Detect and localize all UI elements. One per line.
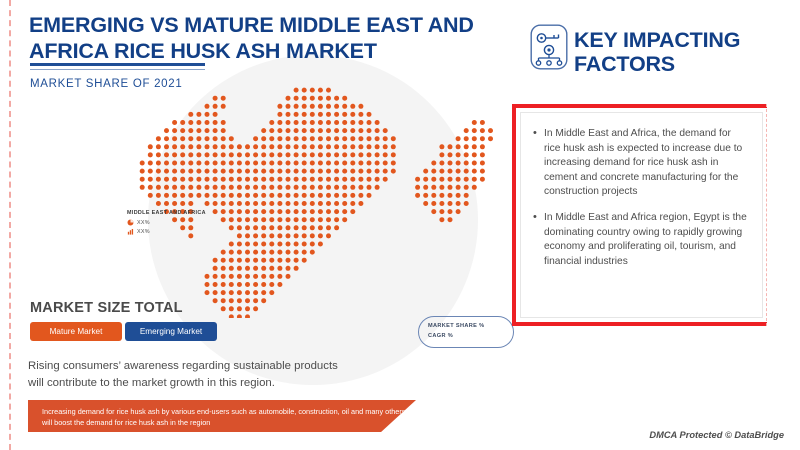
- title-rule-thin: [30, 69, 205, 70]
- key-impacting-factors-title: KEY IMPACTING FACTORS: [574, 28, 789, 76]
- page-title: EMERGING VS MATURE MIDDLE EAST AND AFRIC…: [29, 12, 499, 64]
- factors-border-right-dashed: [766, 104, 767, 326]
- body-paragraph: Rising consumers’ awareness regarding su…: [28, 358, 348, 391]
- bar-chart-icon: [127, 228, 134, 235]
- title-rule-thick: [30, 63, 205, 66]
- market-share-callout: MARKET SHARE % CAGR %: [418, 316, 514, 348]
- footer-copyright: DMCA Protected © DataBridge: [649, 430, 784, 440]
- left-edge-dashed-rule: [9, 0, 11, 450]
- callout-line-market-share: MARKET SHARE %: [428, 322, 513, 332]
- emerging-market-button[interactable]: Emerging Market: [125, 322, 217, 341]
- key-network-icon: [530, 24, 568, 70]
- market-size-total-title: MARKET SIZE TOTAL: [30, 300, 183, 316]
- mature-market-button[interactable]: Mature Market: [30, 322, 122, 341]
- factors-border-left: [512, 104, 516, 326]
- dotted-world-map: [120, 78, 520, 318]
- key-factors-box: In Middle East and Africa, the demand fo…: [512, 104, 767, 326]
- map-legend-value: XX%: [137, 220, 150, 226]
- list-item: In Middle East and Africa region, Egypt …: [544, 211, 750, 269]
- map-legend: MIDDLE EAST AND AFRICA XX% XX%: [127, 210, 232, 235]
- map-legend-row: XX%: [127, 228, 232, 235]
- list-item: In Middle East and Africa, the demand fo…: [544, 127, 750, 200]
- key-factors-card: In Middle East and Africa, the demand fo…: [520, 112, 763, 318]
- insight-banner: Increasing demand for rice husk ash by v…: [28, 400, 416, 432]
- factors-border-top: [512, 104, 767, 108]
- callout-line-cagr: CAGR %: [428, 332, 513, 342]
- map-legend-value: XX%: [137, 229, 150, 235]
- map-legend-title: MIDDLE EAST AND AFRICA: [127, 210, 232, 216]
- map-legend-row: XX%: [127, 219, 232, 226]
- key-factors-list: In Middle East and Africa, the demand fo…: [531, 127, 750, 269]
- slide-canvas: EMERGING VS MATURE MIDDLE EAST AND AFRIC…: [0, 0, 800, 450]
- pie-chart-icon: [127, 219, 134, 226]
- factors-border-bottom: [512, 322, 767, 326]
